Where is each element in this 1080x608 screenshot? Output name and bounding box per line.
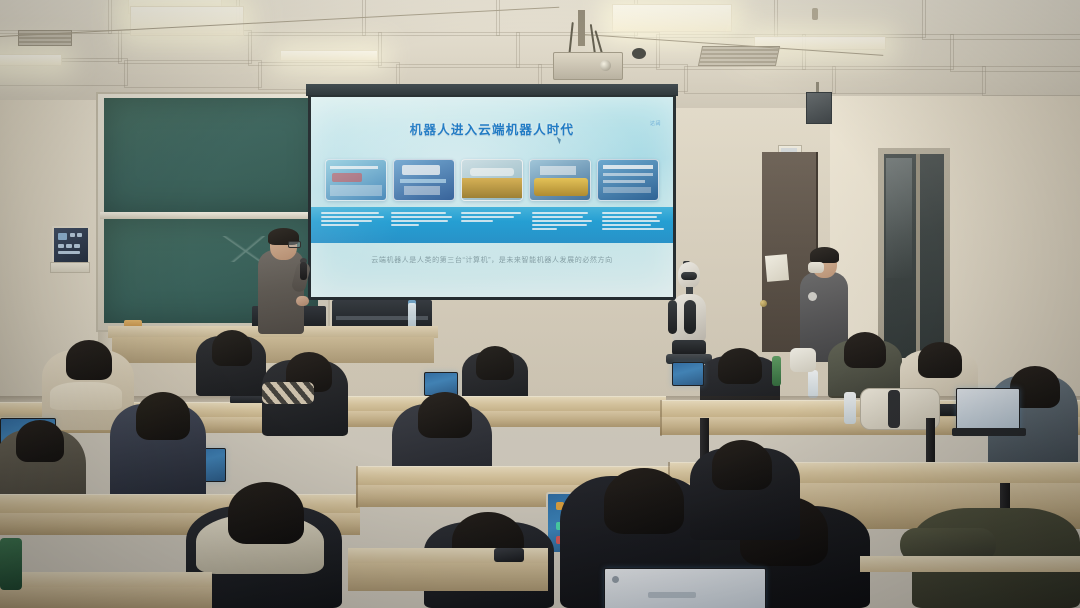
robot-chest-panel — [684, 300, 696, 334]
ceiling-vent-right — [698, 46, 780, 66]
projected-slide: 机器人进入云端机器人时代 达闼 — [311, 97, 673, 297]
classroom-photo: 机器人进入云端机器人时代 达闼 — [0, 0, 1080, 608]
ceiling-projector — [553, 52, 623, 80]
white-plastic-bag — [790, 348, 816, 372]
slide-band-columns — [321, 209, 665, 241]
slide-footer-text: 云端机器人是人类的第三台“计算机”，是未来智能机器人发展的必然方向 — [311, 255, 673, 265]
window-glare — [886, 158, 912, 278]
desk-front-face — [348, 563, 548, 591]
water-bottle — [844, 392, 856, 424]
projector-mount-pole — [578, 10, 585, 46]
hoodie-logo-icon — [808, 292, 817, 301]
student-scarf — [262, 382, 314, 404]
presenter-body — [258, 250, 304, 334]
microphone — [300, 262, 307, 280]
laptop-screen — [672, 362, 704, 386]
student-hair — [136, 392, 190, 440]
phone[interactable] — [494, 548, 524, 562]
robot-arm — [668, 300, 677, 334]
desk-front-face — [0, 587, 212, 608]
slide-logo: 达闼 — [650, 120, 661, 127]
ceiling-light-6 — [280, 50, 378, 61]
slide-thumbnail — [393, 159, 455, 201]
wall-control-panel[interactable] — [52, 226, 90, 264]
wall-panel-label — [50, 262, 90, 273]
door-notice-paper — [765, 254, 789, 282]
ceiling-light-4 — [0, 54, 62, 66]
laptop-screen — [604, 568, 766, 608]
robot-face-visor — [681, 272, 697, 280]
student-hair — [476, 346, 514, 380]
standing-attendee-hair — [810, 247, 839, 263]
student-hair — [16, 420, 64, 462]
band-column — [321, 209, 384, 241]
desk-leg — [926, 418, 935, 462]
ceiling-light-3 — [612, 4, 732, 32]
window-mullion — [916, 154, 920, 358]
student-hair — [212, 330, 252, 366]
desk-front-top — [860, 556, 1080, 572]
student-hair — [718, 348, 762, 384]
laptop-hinge — [952, 428, 1026, 436]
presenter-glasses-icon — [288, 241, 301, 248]
desk-row-face — [336, 411, 666, 427]
face-mask-icon — [808, 262, 824, 273]
student-hair — [712, 440, 772, 490]
door-knob-icon[interactable] — [760, 300, 767, 307]
band-column — [461, 209, 524, 241]
slide-thumbnail — [325, 159, 387, 201]
av-equipment-box — [332, 300, 432, 328]
sprinkler-head — [812, 8, 818, 20]
slide-thumbnail-row — [325, 159, 659, 201]
student-hair — [844, 332, 886, 368]
ceiling-light-2 — [130, 6, 244, 36]
backpack-strap — [888, 390, 900, 428]
presenter-hand — [296, 296, 309, 306]
thermos-bottle — [808, 370, 818, 398]
student-hair — [418, 392, 472, 438]
student-hood — [50, 382, 122, 410]
band-column — [532, 209, 595, 241]
projector-lens-icon — [600, 60, 611, 71]
green-bottle — [772, 356, 781, 386]
wall-speaker — [806, 92, 832, 124]
slide-thumbnail — [597, 159, 659, 201]
band-column — [391, 209, 454, 241]
chalkboard-upper — [104, 98, 318, 212]
student-hair — [228, 482, 304, 544]
student-hair — [604, 468, 684, 534]
desk-front-top — [0, 572, 212, 588]
slide-thumbnail — [461, 159, 523, 201]
chalkboard-rail — [100, 212, 322, 219]
chalkboard-left-edge — [96, 92, 105, 328]
slide-title: 机器人进入云端机器人时代 — [311, 119, 673, 138]
laptop-window-dot — [612, 576, 619, 583]
student-hair — [66, 340, 112, 380]
slide-thumbnail — [529, 159, 591, 201]
laptop-content-line — [648, 592, 696, 598]
band-column — [602, 209, 665, 241]
podium-desk-face — [112, 337, 434, 363]
green-object — [0, 538, 22, 590]
student-hair — [918, 342, 962, 378]
laptop-screen — [956, 388, 1020, 432]
ceiling-camera-icon — [632, 48, 646, 59]
